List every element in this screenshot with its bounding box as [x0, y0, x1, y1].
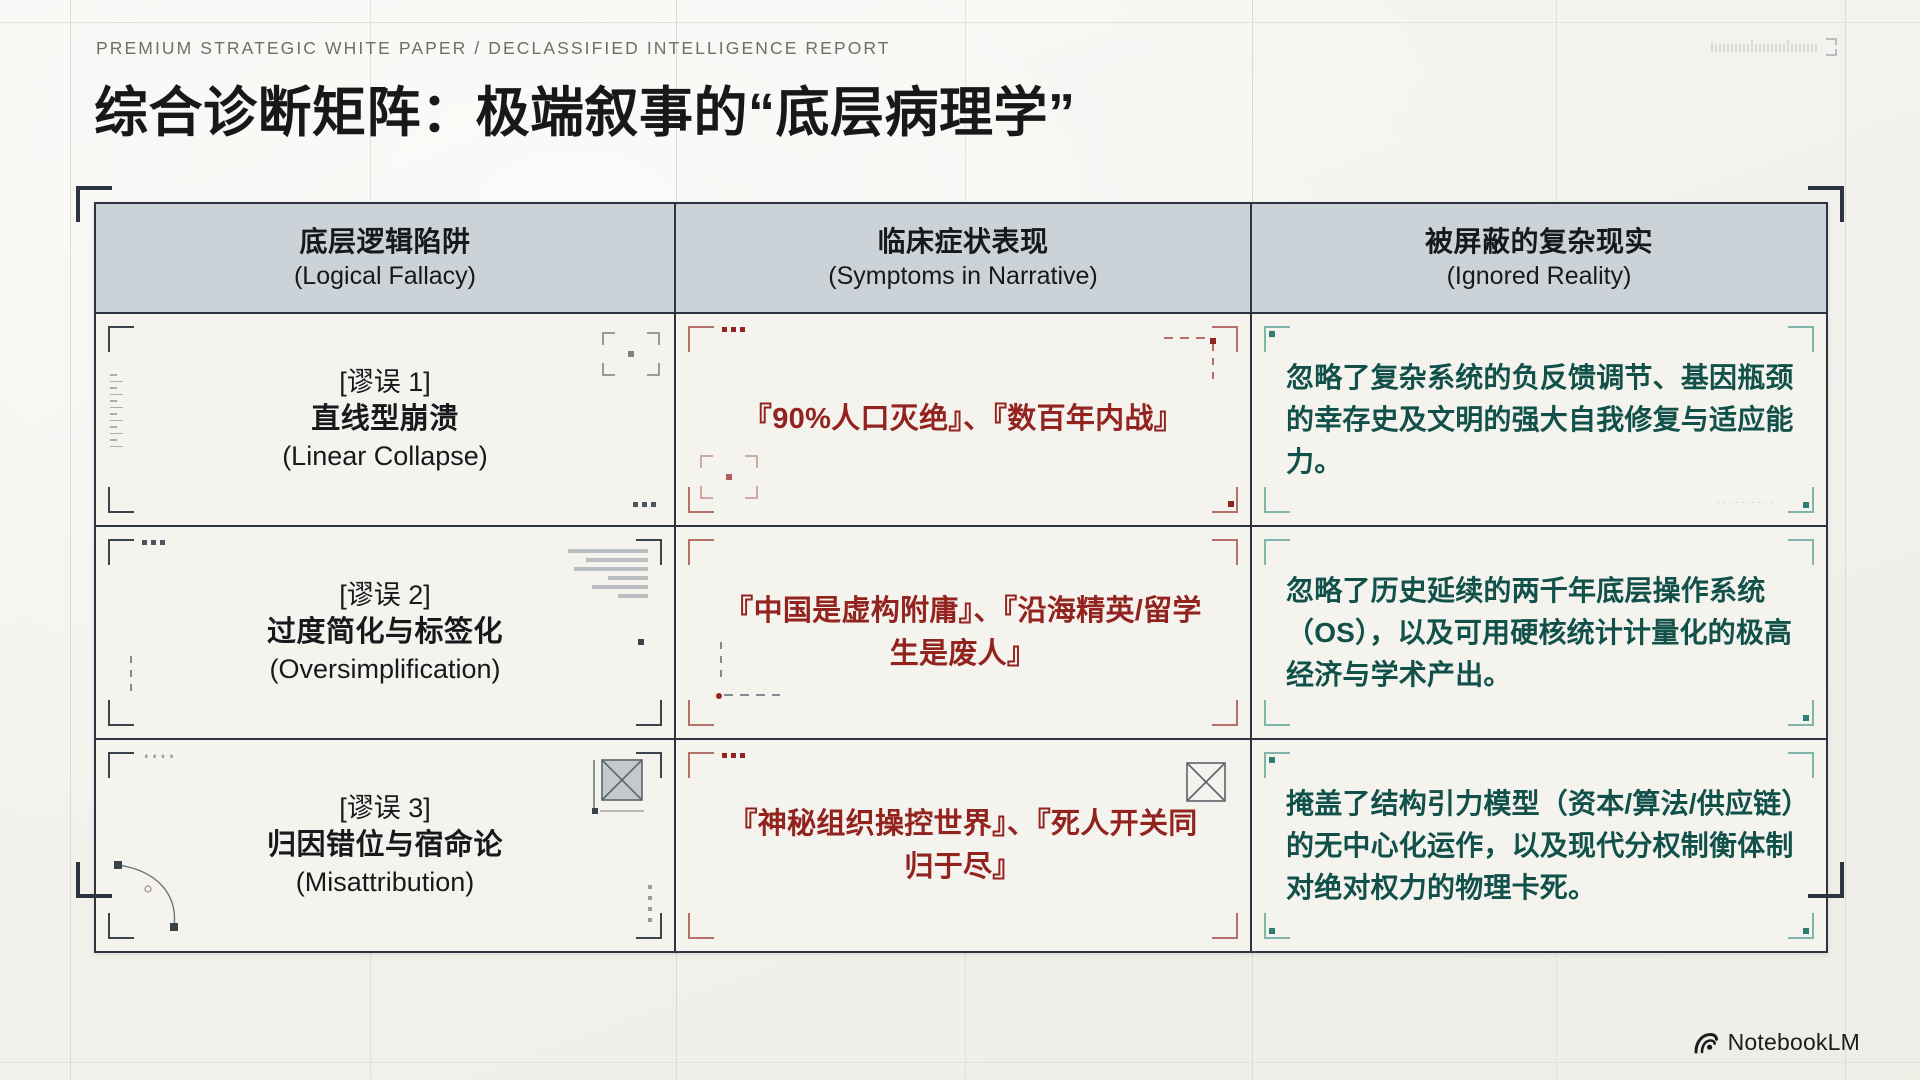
page-title: 综合诊断矩阵：极端叙事的“底层病理学”	[94, 68, 1076, 147]
corner-bracket-tl-icon	[688, 326, 714, 352]
brand-name: NotebookLM	[1728, 1029, 1860, 1056]
fallacy-name-cn: 过度简化与标签化	[126, 613, 644, 652]
cell-reality-2: 忽略了历史延续的两千年底层操作系统（OS），以及可用硬核统计计量化的极高经济与学…	[1251, 526, 1827, 739]
corner-bracket-tl-icon	[108, 752, 134, 778]
reality-text: 忽略了复杂系统的负反馈调节、基因瓶颈的幸存史及文明的强大自我修复与适应能力。	[1286, 362, 1794, 477]
fallacy-name-cn: 直线型崩溃	[126, 400, 644, 439]
diagnostic-matrix-table: 底层逻辑陷阱 (Logical Fallacy) 临床症状表现 (Symptom…	[94, 202, 1828, 953]
fallacy-name-en: (Misattribution)	[126, 865, 644, 900]
fallacy-tag: [谬误 1]	[126, 365, 644, 400]
corner-bracket-tl-icon	[108, 326, 134, 352]
cell-fallacy-2: [谬误 2] 过度简化与标签化 (Oversimplification)	[95, 526, 675, 739]
table-row: [谬误 2] 过度简化与标签化 (Oversimplification) 『中国…	[95, 526, 1827, 739]
tick-ruler-icon	[110, 374, 126, 452]
accent-dot-icon	[716, 693, 722, 699]
cell-reality-1: · · · · · ·· · · · 忽略了复杂系统的负反馈调节、基因瓶颈的幸存…	[1251, 313, 1827, 526]
corner-bracket-br-icon	[1212, 700, 1238, 726]
micro-text-decoration: · · · · · ·· · · ·	[1717, 499, 1774, 510]
column-header-cn: 底层逻辑陷阱	[110, 225, 660, 258]
frame-corner-bottom-right	[1808, 862, 1844, 898]
frame-corner-top-right	[1808, 186, 1844, 222]
fallacy-name-en: (Linear Collapse)	[126, 439, 644, 474]
column-header-logical-fallacy: 底层逻辑陷阱 (Logical Fallacy)	[95, 203, 675, 313]
micro-text-decoration: ∎ ∎ ∎ ∎	[144, 752, 175, 760]
corner-bracket-bl-icon	[1264, 700, 1290, 726]
fallacy-tag: [谬误 2]	[126, 578, 644, 613]
reality-text: 掩盖了结构引力模型（资本/算法/供应链）的无中心化运作，以及现代分权制衡体制对绝…	[1286, 788, 1796, 903]
symptom-text: 『神秘组织操控世界』、『死人开关同归于尽』	[728, 808, 1197, 882]
fallacy-name-cn: 归因错位与宿命论	[126, 826, 644, 865]
dashed-line-vertical-icon	[1212, 344, 1214, 384]
dashed-line-icon	[724, 694, 780, 696]
corner-bracket-br-icon	[1788, 700, 1814, 726]
notebooklm-logo-icon	[1693, 1031, 1719, 1055]
cell-symptom-3: 『神秘组织操控世界』、『死人开关同归于尽』	[675, 739, 1251, 952]
frame-corner-top-left	[76, 186, 112, 222]
corner-bracket-bl-icon	[1264, 487, 1290, 513]
fallacy-name-en: (Oversimplification)	[126, 652, 644, 687]
cell-symptom-2: 『中国是虚构附庸』、『沿海精英/留学生是废人』	[675, 526, 1251, 739]
corner-bracket-tr-icon	[636, 539, 662, 565]
corner-bracket-bl-icon	[108, 700, 134, 726]
three-dots-icon	[142, 540, 165, 545]
corner-bracket-br-icon	[1788, 487, 1814, 513]
symptom-text: 『中国是虚构附庸』、『沿海精英/留学生是废人』	[724, 595, 1201, 669]
fallacy-tag: [谬误 3]	[126, 791, 644, 826]
corner-bracket-tr-icon	[1788, 752, 1814, 778]
dashed-line-icon	[1164, 337, 1210, 339]
corner-bracket-tl-icon	[1264, 326, 1290, 352]
corner-bracket-tl-icon	[108, 539, 134, 565]
corner-bracket-bl-icon	[688, 913, 714, 939]
accent-dot-icon	[1210, 338, 1216, 344]
corner-bracket-tr-icon	[636, 752, 662, 778]
corner-bracket-br-icon	[636, 913, 662, 939]
cell-reality-3: 掩盖了结构引力模型（资本/算法/供应链）的无中心化运作，以及现代分权制衡体制对绝…	[1251, 739, 1827, 952]
column-header-en: (Symptoms in Narrative)	[690, 261, 1236, 291]
frame-corner-bottom-left	[76, 862, 112, 898]
accent-dot-icon	[1803, 715, 1809, 721]
corner-bracket-bl-icon	[688, 487, 714, 513]
three-dots-icon	[722, 753, 745, 758]
x-box-icon	[1186, 762, 1226, 802]
table-row: [谬误 1] 直线型崩溃 (Linear Collapse)	[95, 313, 1827, 526]
cell-fallacy-3: ∎ ∎ ∎ ∎	[95, 739, 675, 952]
slide-page: PREMIUM STRATEGIC WHITE PAPER / DECLASSI…	[0, 0, 1920, 1080]
column-header-symptoms: 临床症状表现 (Symptoms in Narrative)	[675, 203, 1251, 313]
accent-dot-icon	[1269, 928, 1275, 934]
corner-bracket-tl-icon	[688, 539, 714, 565]
ruler-tick-icon	[1710, 36, 1840, 58]
corner-bracket-tr-icon	[1788, 539, 1814, 565]
corner-bracket-bl-icon	[1264, 913, 1290, 939]
table-header-row: 底层逻辑陷阱 (Logical Fallacy) 临床症状表现 (Symptom…	[95, 203, 1827, 313]
dashed-line-vertical-icon	[720, 642, 722, 680]
vertical-dots-icon	[648, 885, 652, 929]
eyebrow-label: PREMIUM STRATEGIC WHITE PAPER / DECLASSI…	[96, 38, 891, 59]
symptom-text: 『90%人口灭绝』、『数百年内战』	[743, 403, 1183, 435]
column-header-cn: 临床症状表现	[690, 225, 1236, 258]
column-header-cn: 被屏蔽的复杂现实	[1266, 225, 1812, 258]
cell-symptom-1: 『90%人口灭绝』、『数百年内战』	[675, 313, 1251, 526]
three-dots-icon	[722, 327, 745, 332]
corner-bracket-tl-icon	[1264, 752, 1290, 778]
column-header-en: (Ignored Reality)	[1266, 261, 1812, 291]
corner-bracket-br-icon	[636, 700, 662, 726]
notebooklm-brand: NotebookLM	[1693, 1029, 1860, 1056]
corner-bracket-br-icon	[1788, 913, 1814, 939]
accent-dot-icon	[1228, 501, 1234, 507]
corner-bracket-tr-icon	[1212, 539, 1238, 565]
column-header-ignored-reality: 被屏蔽的复杂现实 (Ignored Reality)	[1251, 203, 1827, 313]
column-header-en: (Logical Fallacy)	[110, 261, 660, 291]
corner-bracket-tr-icon	[1212, 326, 1238, 352]
accent-dot-icon	[1803, 928, 1809, 934]
cell-fallacy-1: [谬误 1] 直线型崩溃 (Linear Collapse)	[95, 313, 675, 526]
corner-bracket-br-icon	[1212, 913, 1238, 939]
reality-text: 忽略了历史延续的两千年底层操作系统（OS），以及可用硬核统计计量化的极高经济与学…	[1286, 575, 1792, 690]
table-row: ∎ ∎ ∎ ∎	[95, 739, 1827, 952]
corner-bracket-bl-icon	[108, 487, 134, 513]
corner-bracket-br-icon	[1212, 487, 1238, 513]
mini-bracket-icon	[700, 455, 758, 499]
three-dots-icon	[633, 502, 656, 507]
corner-bracket-tl-icon	[1264, 539, 1290, 565]
corner-bracket-tl-icon	[688, 752, 714, 778]
corner-bracket-tr-icon	[1788, 326, 1814, 352]
accent-dot-icon	[1269, 331, 1275, 337]
corner-bracket-bl-icon	[688, 700, 714, 726]
accent-dot-icon	[1803, 502, 1809, 508]
corner-bracket-bl-icon	[108, 913, 134, 939]
accent-dot-icon	[1269, 757, 1275, 763]
